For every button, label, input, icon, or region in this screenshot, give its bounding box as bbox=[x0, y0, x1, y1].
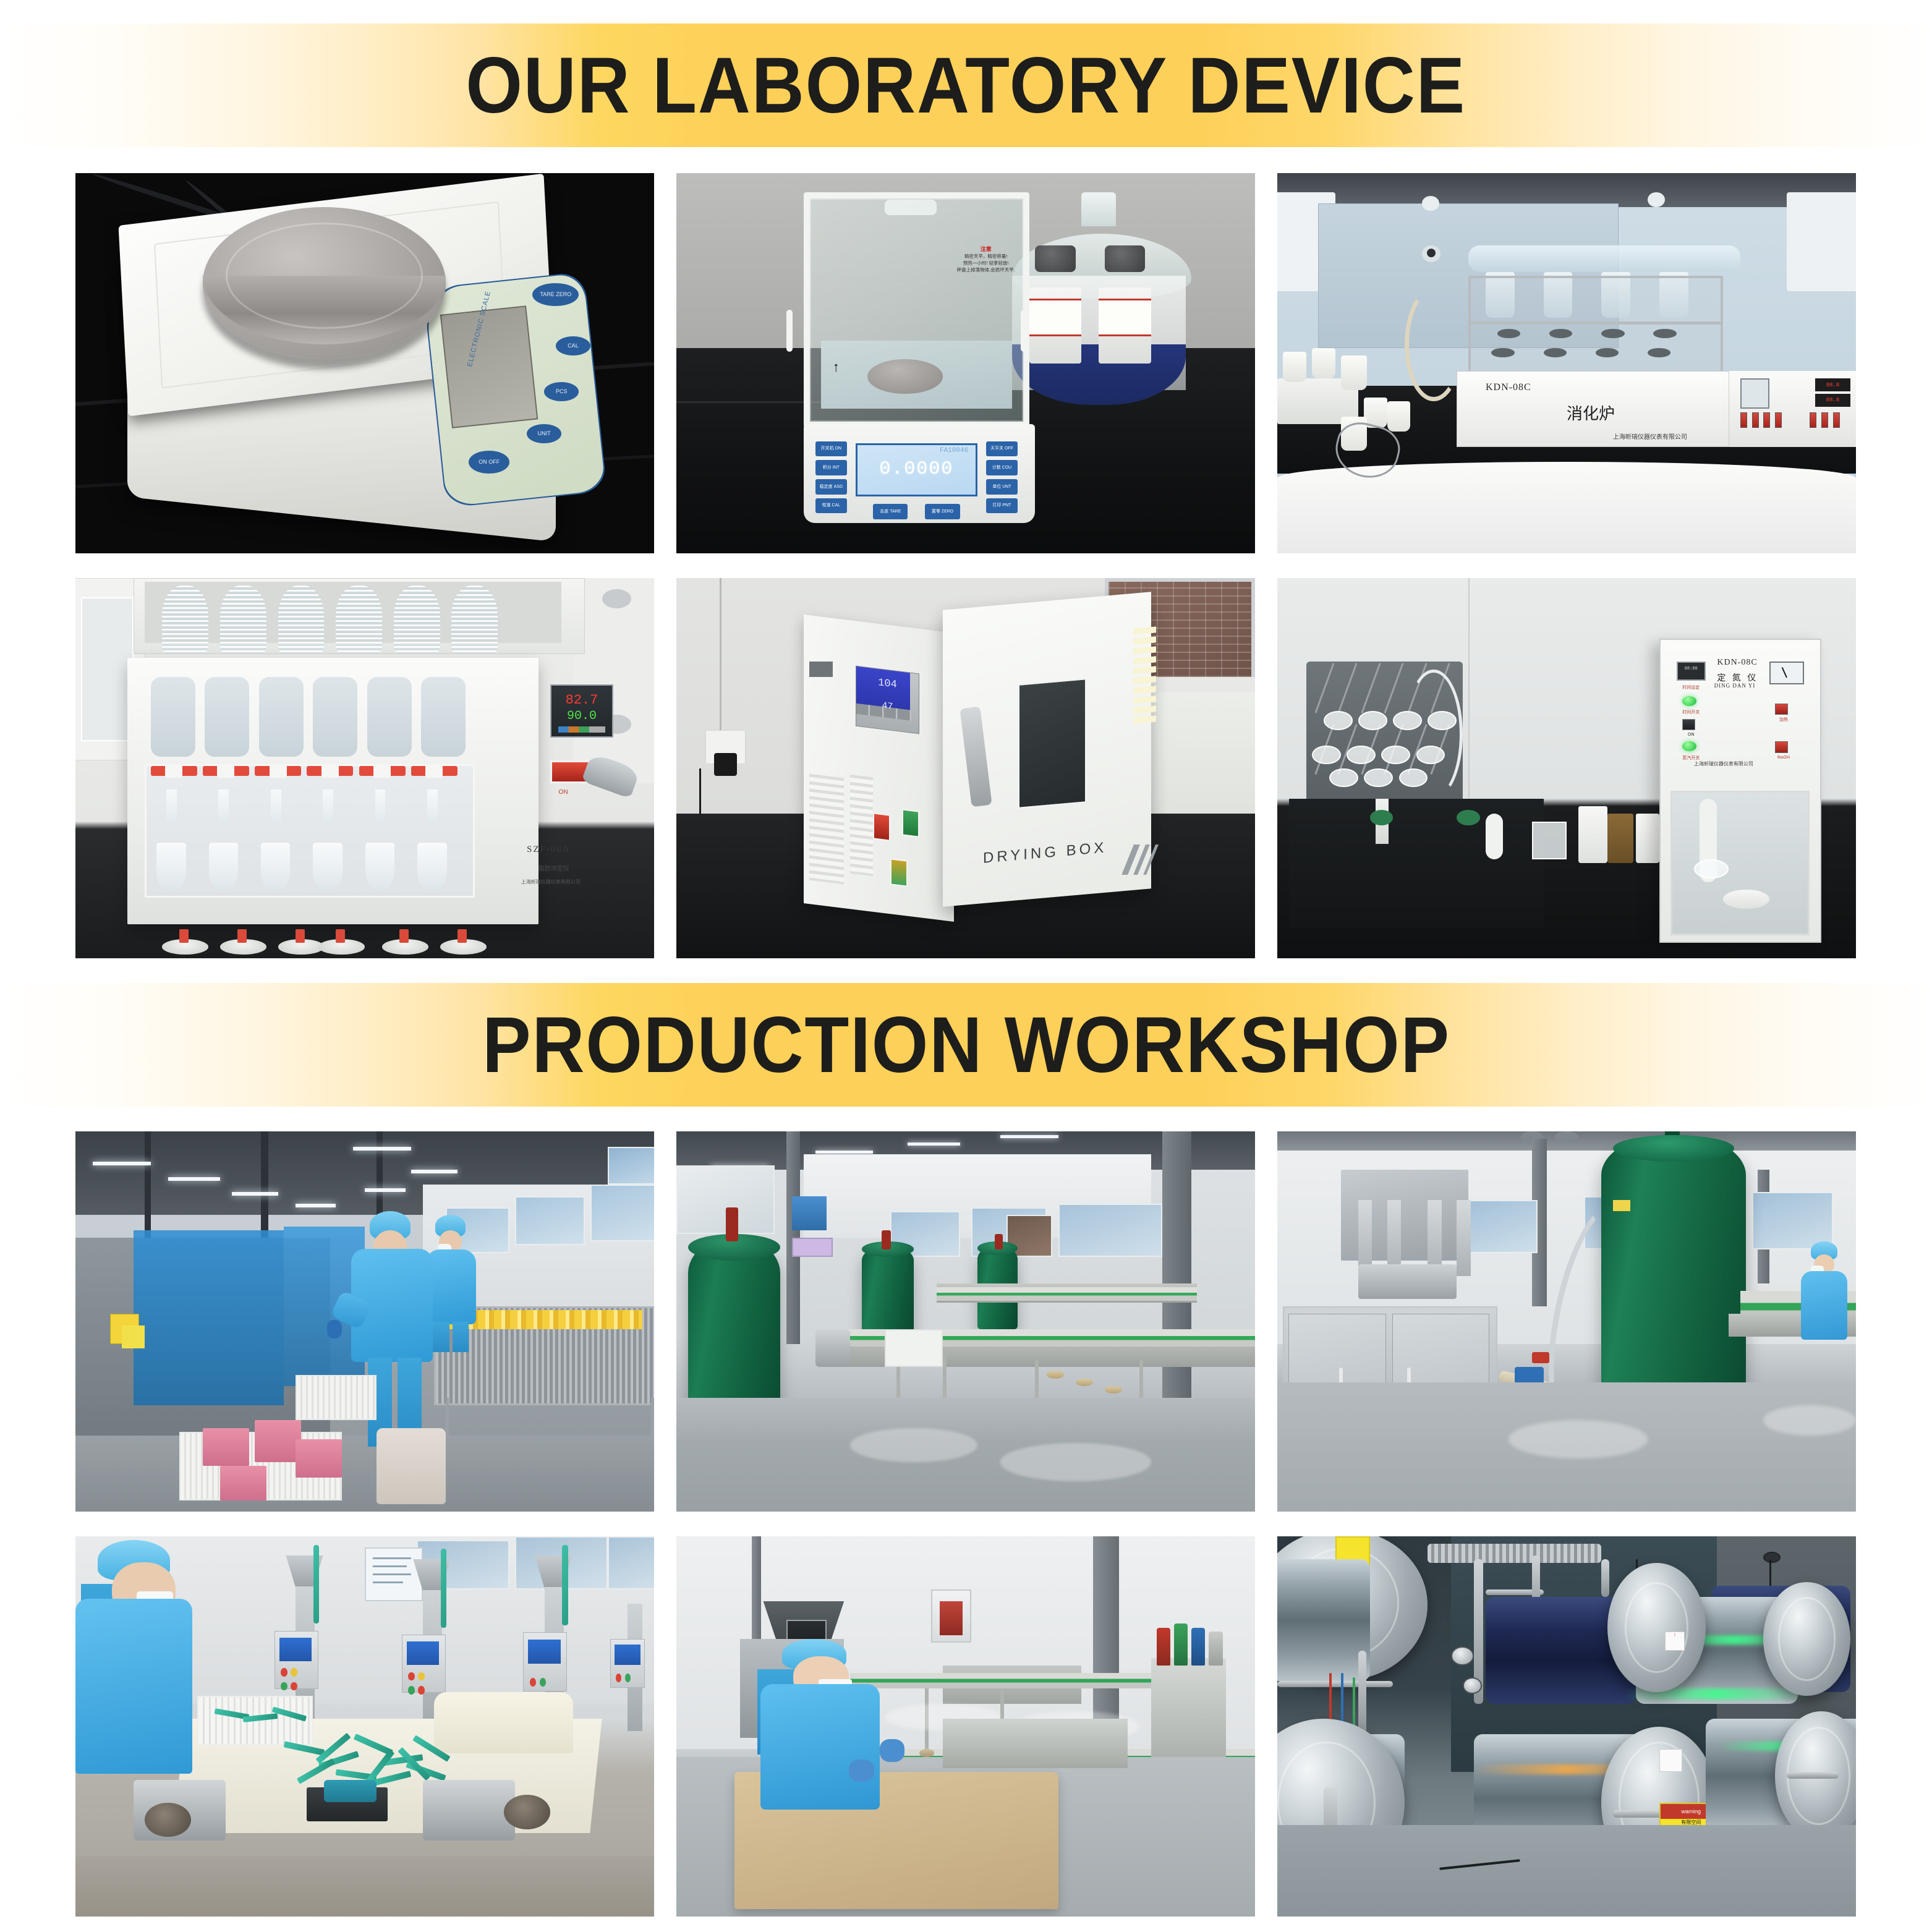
timer-set-label: 时间设定 bbox=[1670, 684, 1711, 691]
naoh-label: NaOH bbox=[1769, 755, 1798, 760]
section-banner-laboratory: OUR LABORATORY DEVICE bbox=[0, 23, 1932, 147]
analyzer-manufacturer-label: 上海昕瑞仪器仪表有限公司 bbox=[521, 879, 581, 885]
desiccator-knob bbox=[1081, 192, 1116, 226]
key-cou[interactable]: 计数 COU bbox=[986, 460, 1018, 475]
tool-stand bbox=[1151, 1658, 1227, 1757]
furnace-digital-display-1: 88.8 bbox=[1815, 378, 1850, 391]
draft-shield-left-handle[interactable] bbox=[786, 310, 793, 352]
section-title-laboratory: OUR LABORATORY DEVICE bbox=[466, 40, 1466, 131]
film-roll bbox=[434, 1692, 573, 1753]
retort-label-back: ! bbox=[1665, 1632, 1685, 1651]
nitrogen-manufacturer-label: 上海昕瑞仪器仪表有限公司 bbox=[1694, 760, 1753, 767]
fat-analyzer-controller[interactable]: 82.7 90.0 bbox=[550, 684, 614, 738]
air-tank-2 bbox=[862, 1246, 914, 1337]
furnace-analog-meter bbox=[1740, 378, 1769, 409]
steam-switch-label: 蒸汽开关 bbox=[1670, 755, 1711, 761]
oven-temperature-display: 104 bbox=[856, 674, 919, 694]
unit-button[interactable]: UNIT bbox=[527, 424, 561, 443]
key-off[interactable]: 天平关 OFF bbox=[986, 441, 1018, 457]
temperature-display-actual: 82.7 bbox=[551, 692, 613, 708]
on-off-button[interactable]: ON OFF bbox=[469, 451, 509, 474]
power-switch-label: ON bbox=[559, 789, 568, 796]
vffs-machine-4 bbox=[608, 1589, 654, 1734]
analog-ammeter bbox=[1769, 662, 1804, 684]
calibration-weight bbox=[867, 359, 943, 393]
line-controller[interactable] bbox=[792, 1196, 827, 1230]
oven-power-switch[interactable] bbox=[902, 809, 919, 837]
timer-switch-label: 时间开关 bbox=[1670, 709, 1711, 715]
nitrogen-name-label: 定 氮 仪 bbox=[1717, 671, 1758, 684]
key-cal[interactable]: 校准 CAL bbox=[815, 498, 847, 514]
analyzer-name-label: 脂肪测定仪 bbox=[538, 863, 569, 872]
plastic-stool bbox=[377, 1428, 446, 1504]
balance-model-code: FA10046 bbox=[857, 447, 968, 454]
key-pnt[interactable]: 打印 PNT bbox=[986, 498, 1018, 514]
photo-fat-analyzer-soxhlet: 82.7 90.0 ON SZF-06A 脂肪测定仪 上海昕瑞仪器仪表有限公司 bbox=[75, 578, 654, 958]
oven-door-window bbox=[1018, 678, 1087, 809]
key-zero[interactable]: 置零 ZERO bbox=[925, 504, 960, 519]
key-on[interactable]: 开关机 ON bbox=[815, 441, 847, 457]
furnace-name-label: 消化炉 bbox=[1567, 401, 1615, 424]
nitrogen-model-label: KDN-08C bbox=[1717, 658, 1757, 668]
workshop-photo-grid: 24.8 bbox=[75, 1131, 1856, 1917]
collage-page: OUR LABORATORY DEVICE TARE ZERO CAL PCS … bbox=[0, 0, 1932, 1932]
draft-shield-right-handle[interactable] bbox=[1021, 310, 1027, 352]
scale-lcd-display bbox=[440, 306, 538, 428]
temperature-display-setpoint: 90.0 bbox=[551, 709, 613, 723]
worker-at-conveyor bbox=[1798, 1241, 1850, 1356]
worker-sorting-sachets bbox=[81, 1540, 220, 1905]
photo-retort-sterilizers: ! bbox=[1277, 1536, 1856, 1917]
key-tare[interactable]: 去皮 TARE bbox=[873, 504, 908, 519]
photo-analytical-balance-nitto: 注意 精密天平，精密称量! 预热一小时! 轻拿轻放! 秤盘上掉落物体,会损坏天平… bbox=[676, 173, 1255, 553]
up-arrow-icon: ↑ bbox=[833, 359, 840, 375]
photo-electronic-precision-balance: TARE ZERO CAL PCS UNIT ON OFF ELECTRONIC… bbox=[75, 173, 654, 553]
gear-motor-right bbox=[423, 1780, 516, 1841]
distillation-chamber bbox=[1670, 791, 1810, 935]
photo-filling-conveyor-line bbox=[676, 1131, 1255, 1512]
heater-label: 加热 bbox=[1769, 717, 1798, 723]
furnace-digital-display-2: 88.8 bbox=[1815, 394, 1850, 407]
on-rocker-switch[interactable] bbox=[1682, 719, 1695, 730]
vffs-display-1 bbox=[279, 1638, 312, 1662]
heater-switch[interactable] bbox=[1775, 704, 1788, 715]
worker-seated bbox=[757, 1639, 896, 1890]
key-asd[interactable]: 稳定度 ASD bbox=[815, 479, 847, 495]
photo-kjeldahl-digestion-furnace: KDN-08C 消化炉 上海昕瑞仪器仪表有限公司 88.8 88.8 bbox=[1277, 173, 1856, 553]
pcs-button[interactable]: PCS bbox=[544, 382, 579, 401]
photo-kjeldahl-nitrogen-analyzer: KDN-08C 定 氮 仪 DING DAN YI 上海昕瑞仪器仪表有限公司 8… bbox=[1277, 578, 1856, 958]
analyzer-model-label: SZF-06A bbox=[527, 845, 571, 855]
naoh-switch[interactable] bbox=[1775, 741, 1788, 752]
furnace-manufacturer-label: 上海昕瑞仪器仪表有限公司 bbox=[1613, 432, 1687, 441]
furnace-model-label: KDN-08C bbox=[1486, 382, 1531, 393]
photo-sachet-filling-station: 24.8 bbox=[75, 1536, 654, 1917]
pressure-gauge-1 bbox=[1451, 1646, 1474, 1666]
vffs-display-2 bbox=[407, 1641, 439, 1666]
section-banner-workshop: PRODUCTION WORKSHOP bbox=[0, 983, 1932, 1107]
key-unt[interactable]: 单位 UNT bbox=[986, 479, 1018, 495]
upper-conveyor-belt bbox=[937, 1287, 1197, 1301]
photo-capping-machine-station bbox=[1277, 1131, 1856, 1512]
on-label: ON bbox=[1677, 732, 1706, 737]
timer-switch-led[interactable] bbox=[1682, 696, 1696, 706]
pressure-gauge-2 bbox=[1463, 1677, 1483, 1694]
photo-can-inspection-station bbox=[676, 1536, 1255, 1917]
line-hmi-screen[interactable] bbox=[792, 1238, 833, 1257]
balance-warning-notice: 注意 精密天平，精密称量! 预热一小时! 轻拿轻放! 秤盘上掉落物体,会损坏天平… bbox=[948, 245, 1024, 274]
balance-reading: 0.0000 bbox=[857, 459, 976, 480]
key-int[interactable]: 积分 INT bbox=[815, 460, 847, 475]
vffs-display-3 bbox=[528, 1640, 560, 1664]
nitrogen-pinyin-label: DING DAN YI bbox=[1714, 683, 1756, 689]
timer-display[interactable]: 88:88 bbox=[1677, 662, 1706, 681]
cal-button[interactable]: CAL bbox=[556, 336, 590, 355]
oven-controller[interactable]: 104 47 bbox=[856, 665, 919, 734]
section-title-workshop: PRODUCTION WORKSHOP bbox=[482, 1000, 1450, 1091]
balance-display: FA10046 0.0000 bbox=[856, 443, 977, 496]
photo-electric-drying-oven: 104 47 DRYING BOX bbox=[676, 578, 1255, 958]
oven-heater-switch[interactable] bbox=[873, 813, 890, 841]
oven-fan-switch[interactable] bbox=[890, 858, 908, 887]
photo-cartoning-packaging-line bbox=[75, 1131, 654, 1512]
laboratory-photo-grid: TARE ZERO CAL PCS UNIT ON OFF ELECTRONIC… bbox=[75, 173, 1856, 958]
